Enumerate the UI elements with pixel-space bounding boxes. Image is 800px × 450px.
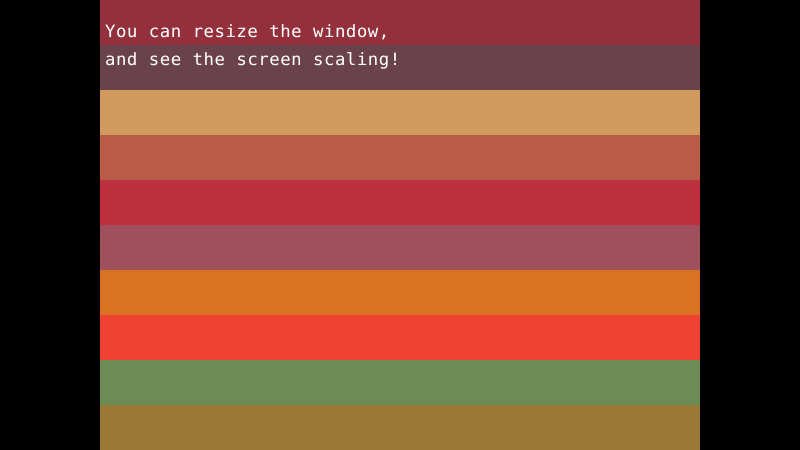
- band-ochre: [100, 405, 700, 450]
- letterbox-bar-left: [0, 0, 100, 450]
- band-dark-red: [100, 0, 700, 45]
- scaled-viewport: You can resize the window, and see the s…: [100, 0, 700, 450]
- color-band-stack: [100, 0, 700, 450]
- band-orange: [100, 270, 700, 315]
- app-root: You can resize the window, and see the s…: [0, 0, 800, 450]
- band-mauve: [100, 45, 700, 90]
- band-olive-green: [100, 360, 700, 405]
- band-terracotta: [100, 135, 700, 180]
- band-bright-red: [100, 315, 700, 360]
- band-tan: [100, 90, 700, 135]
- band-rose: [100, 225, 700, 270]
- band-crimson: [100, 180, 700, 225]
- letterbox-bar-right: [700, 0, 800, 450]
